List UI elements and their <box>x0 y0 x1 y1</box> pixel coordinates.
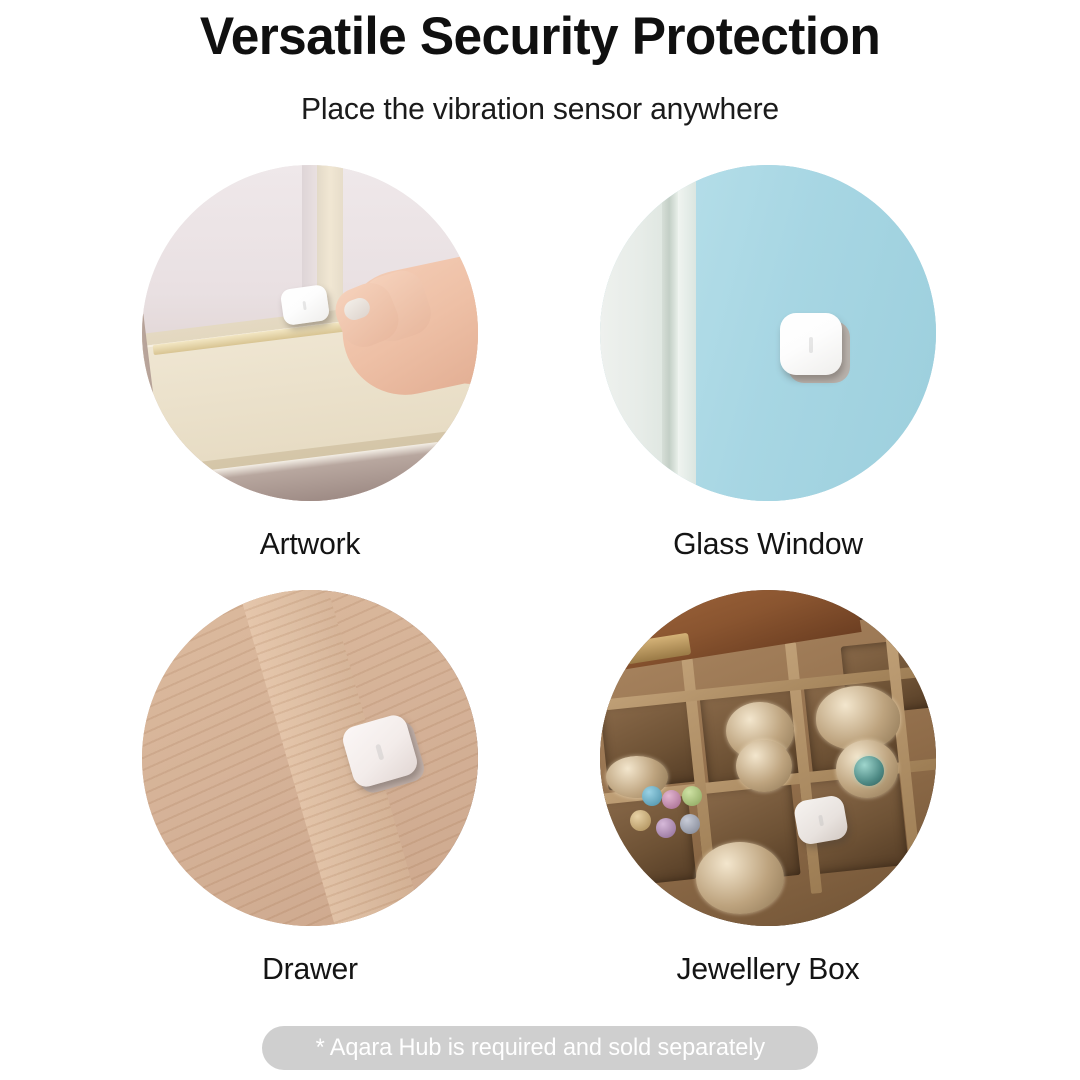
jewellery-bead-silver <box>680 814 700 834</box>
scene-card-jewellery-box: Jewellery Box <box>600 590 936 988</box>
glass-window-frame-highlight <box>678 165 696 501</box>
jewellery-bead-pink <box>662 790 681 809</box>
footer-disclaimer-text: * Aqara Hub is required and sold separat… <box>315 1034 764 1062</box>
scene-card-glass-window: Glass Window <box>600 165 936 563</box>
scene-caption-drawer: Drawer <box>147 950 473 988</box>
glass-window-frame-shadow <box>662 165 678 501</box>
scene-caption-glass-window: Glass Window <box>605 525 931 563</box>
vibration-sensor-device <box>280 284 331 326</box>
photo-jewellery-box <box>600 590 936 926</box>
photo-drawer <box>142 590 478 926</box>
vibration-sensor-device <box>780 313 842 375</box>
scene-caption-jewellery-box: Jewellery Box <box>605 950 931 988</box>
footer-disclaimer-pill: * Aqara Hub is required and sold separat… <box>262 1026 818 1070</box>
jewellery-bead-violet <box>656 818 676 838</box>
jewellery-bead-blue <box>642 786 662 806</box>
scene-card-artwork: Artwork <box>142 165 478 563</box>
jewellery-chain <box>696 842 784 914</box>
jewellery-green-gem <box>854 756 884 786</box>
jewellery-bead-gold <box>630 810 651 831</box>
jewellery-bead-green <box>682 786 702 806</box>
photo-glass-window <box>600 165 936 501</box>
scene-grid: Artwork Glass Window Drawer <box>0 0 1080 1080</box>
glass-window-frame <box>600 165 666 501</box>
scene-caption-artwork: Artwork <box>147 525 473 563</box>
scene-card-drawer: Drawer <box>142 590 478 988</box>
jewellery-cluster <box>736 740 792 792</box>
photo-artwork <box>142 165 478 501</box>
